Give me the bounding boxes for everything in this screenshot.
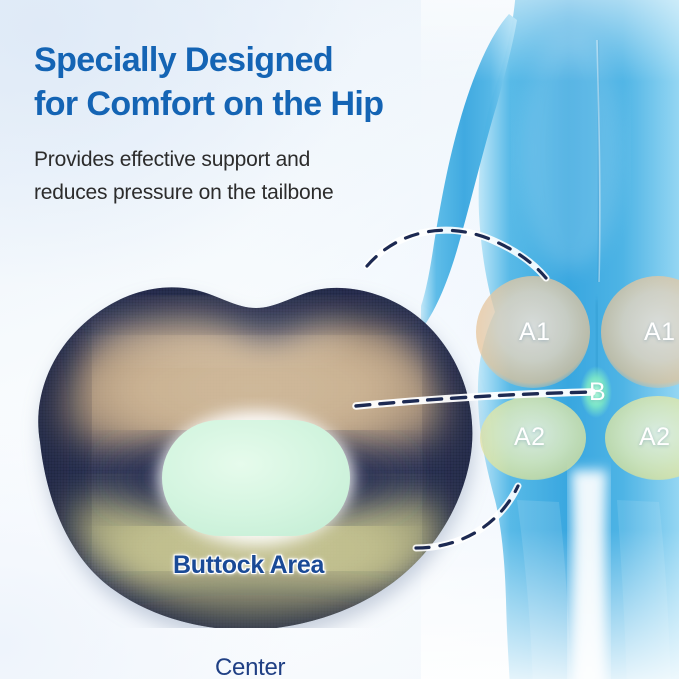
page-title: Specially Designed for Comfort on the Hi…: [34, 38, 464, 126]
headline-line-1: Specially Designed: [34, 41, 333, 79]
page-subtitle: Provides effective support and reduces p…: [34, 143, 434, 209]
body-label-a2-left: A2: [514, 423, 546, 452]
body-label-a2-right: A2: [639, 423, 671, 452]
subhead-line-1: Provides effective support and: [34, 148, 310, 171]
body-label-a1-left: A1: [519, 318, 551, 347]
cushion-center-hole: [159, 411, 353, 545]
body-label-a1-right: A1: [644, 318, 676, 347]
infographic-canvas: A1 A1 B A2 A2 Specially Designed for Com…: [0, 0, 679, 679]
body-label-b-center: B: [589, 378, 606, 407]
subhead-line-2: reduces pressure on the tailbone: [34, 181, 333, 204]
cushion-label-center-hole: Center Hole: [215, 652, 285, 679]
headline-line-2: for Comfort on the Hip: [34, 82, 464, 126]
cushion-label-buttock-area: Buttock Area: [173, 551, 324, 580]
cushion-diagram: Buttock Area Leg Support Area Center Hol…: [10, 246, 500, 628]
center-hole-line-1: Center: [215, 652, 285, 679]
